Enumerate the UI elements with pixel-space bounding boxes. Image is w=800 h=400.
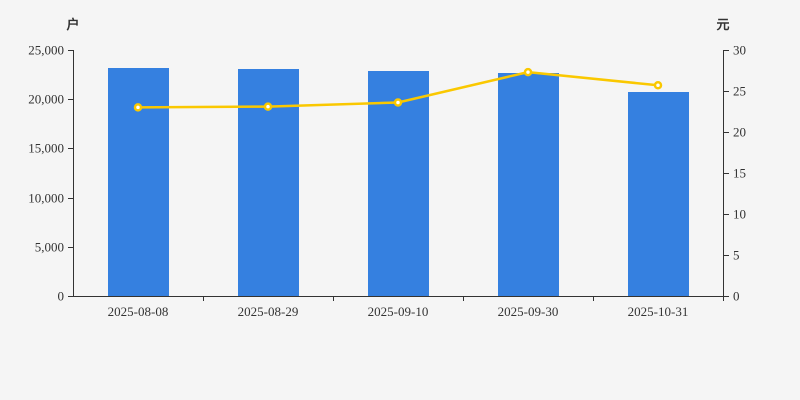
x-axis-tick-mark — [723, 296, 724, 301]
left-axis-tick-label: 5,000 — [35, 240, 64, 253]
left-axis-tick-mark — [68, 148, 73, 149]
left-axis-tick-mark — [68, 99, 73, 100]
left-axis-unit-label: 户 — [66, 18, 79, 31]
left-axis-tick-label: 0 — [58, 290, 65, 303]
right-axis-tick-label: 0 — [733, 290, 740, 303]
x-axis-tick-label: 2025-08-08 — [108, 305, 169, 318]
right-axis-unit-label: 元 — [716, 18, 729, 31]
right-axis-tick-label: 25 — [733, 85, 746, 98]
x-axis-tick-label: 2025-08-29 — [238, 305, 299, 318]
chart-container: 户 元 05,00010,00015,00020,00025,000 05101… — [0, 0, 800, 400]
x-axis-line — [73, 296, 723, 297]
right-axis-tick-label: 30 — [733, 44, 746, 57]
left-axis-tick-mark — [68, 247, 73, 248]
right-axis-tick-mark — [724, 173, 729, 174]
x-axis-tick-mark — [593, 296, 594, 301]
bar[interactable] — [628, 92, 689, 296]
x-axis-tick-label: 2025-09-10 — [368, 305, 429, 318]
x-axis-tick-label: 2025-10-31 — [628, 305, 689, 318]
right-axis-tick-mark — [724, 214, 729, 215]
left-axis-tick-mark — [68, 198, 73, 199]
bar[interactable] — [498, 73, 559, 296]
x-axis-tick-label: 2025-09-30 — [498, 305, 559, 318]
line-marker[interactable] — [655, 82, 661, 88]
left-axis-tick-mark — [68, 296, 73, 297]
right-axis-tick-mark — [724, 132, 729, 133]
right-axis-tick-label: 20 — [733, 126, 746, 139]
bar[interactable] — [108, 68, 169, 296]
left-axis-tick-mark — [68, 50, 73, 51]
x-axis-tick-mark — [463, 296, 464, 301]
left-axis-tick-label: 25,000 — [28, 44, 64, 57]
left-axis-tick-label: 15,000 — [28, 142, 64, 155]
right-axis-tick-label: 5 — [733, 249, 740, 262]
right-axis-tick-mark — [724, 255, 729, 256]
x-axis-tick-mark — [203, 296, 204, 301]
left-axis-tick-label: 20,000 — [28, 93, 64, 106]
right-axis-tick-mark — [724, 50, 729, 51]
bar[interactable] — [368, 71, 429, 296]
right-axis-tick-label: 15 — [733, 167, 746, 180]
left-y-axis-line — [73, 50, 74, 296]
x-axis-tick-mark — [333, 296, 334, 301]
bar[interactable] — [238, 69, 299, 296]
right-axis-tick-mark — [724, 296, 729, 297]
right-axis-tick-mark — [724, 91, 729, 92]
right-axis-tick-label: 10 — [733, 208, 746, 221]
left-axis-tick-label: 10,000 — [28, 191, 64, 204]
